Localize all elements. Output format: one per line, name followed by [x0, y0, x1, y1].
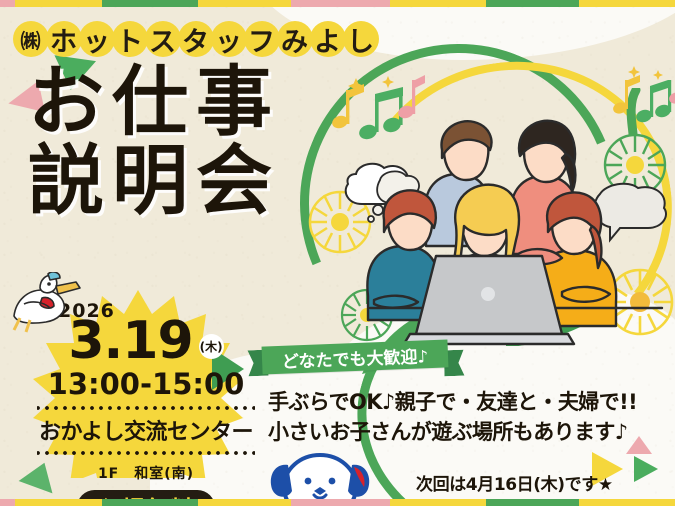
strip-segment-7: [579, 0, 675, 7]
strip-segment-3: [198, 499, 291, 506]
strip-segment-7: [579, 499, 675, 506]
dotted-divider-bottom: [37, 449, 255, 457]
company-name-char-0: ㈱: [14, 18, 47, 60]
event-time: 13:00-15:00: [26, 367, 266, 401]
event-description: 手ぶらでOK♪親子で・友達と・夫婦で!! 小さいお子さんが遊ぶ場所もあります♪: [268, 388, 637, 448]
company-name-char-1: ホ: [47, 18, 80, 60]
poster-root: どなたでも大歓迎♪ ㈱ホットスタッフみよし お仕事 説明会 お仕事 説明会 20…: [0, 0, 675, 506]
page-title: お仕事 説明会: [28, 66, 280, 217]
company-name-char-6: ッ: [212, 18, 245, 60]
top-color-strip: [0, 0, 675, 7]
trumpet-bird-icon: [6, 272, 82, 334]
company-name-char-7: フ: [245, 18, 278, 60]
music-notes-icon-right: [612, 64, 675, 130]
music-notes-icon-left: [330, 72, 426, 150]
title-line1: お仕事: [28, 66, 280, 137]
company-name-char-2: ッ: [80, 18, 113, 60]
strip-segment-3: [198, 0, 291, 7]
event-room: 1F 和室(南): [26, 463, 266, 483]
strip-segment-4: [291, 499, 390, 506]
title-line2: 説明会: [28, 145, 280, 216]
strip-segment-0: [0, 499, 15, 506]
company-name-char-3: ト: [113, 18, 146, 60]
company-name-char-9: よ: [311, 18, 344, 60]
copy-line-1: 手ぶらでOK♪親子で・友達と・夫婦で!!: [268, 388, 637, 418]
company-name-char-10: し: [344, 18, 377, 60]
strip-segment-5: [390, 0, 486, 7]
dog-mascot-icon: [266, 447, 374, 499]
dotted-divider-top: [37, 404, 255, 412]
copy-line-2: 小さいお子さんが遊ぶ場所もあります♪: [268, 418, 637, 448]
company-name-char-5: タ: [179, 18, 212, 60]
strip-segment-1: [15, 0, 102, 7]
strip-segment-6: [486, 0, 579, 7]
event-venue: おかよし交流センター: [26, 414, 266, 446]
company-name: ㈱ホットスタッフみよし: [14, 18, 377, 60]
strip-segment-0: [0, 0, 15, 7]
green-triangle-right-icon: [634, 456, 658, 482]
company-name-char-8: み: [278, 18, 311, 60]
strip-segment-2: [102, 0, 198, 7]
event-date: 3.19: [68, 318, 192, 365]
event-day-of-week: (木): [199, 334, 224, 359]
strip-segment-1: [15, 499, 102, 506]
strip-segment-2: [102, 499, 198, 506]
strip-segment-5: [390, 499, 486, 506]
strip-segment-4: [291, 0, 390, 7]
bottom-color-strip: [0, 499, 675, 506]
company-name-char-4: ス: [146, 18, 179, 60]
ribbon-label: どなたでも大歓迎♪: [281, 342, 428, 373]
strip-segment-6: [486, 499, 579, 506]
next-session-note: 次回は4月16日(木)です★: [416, 470, 613, 495]
